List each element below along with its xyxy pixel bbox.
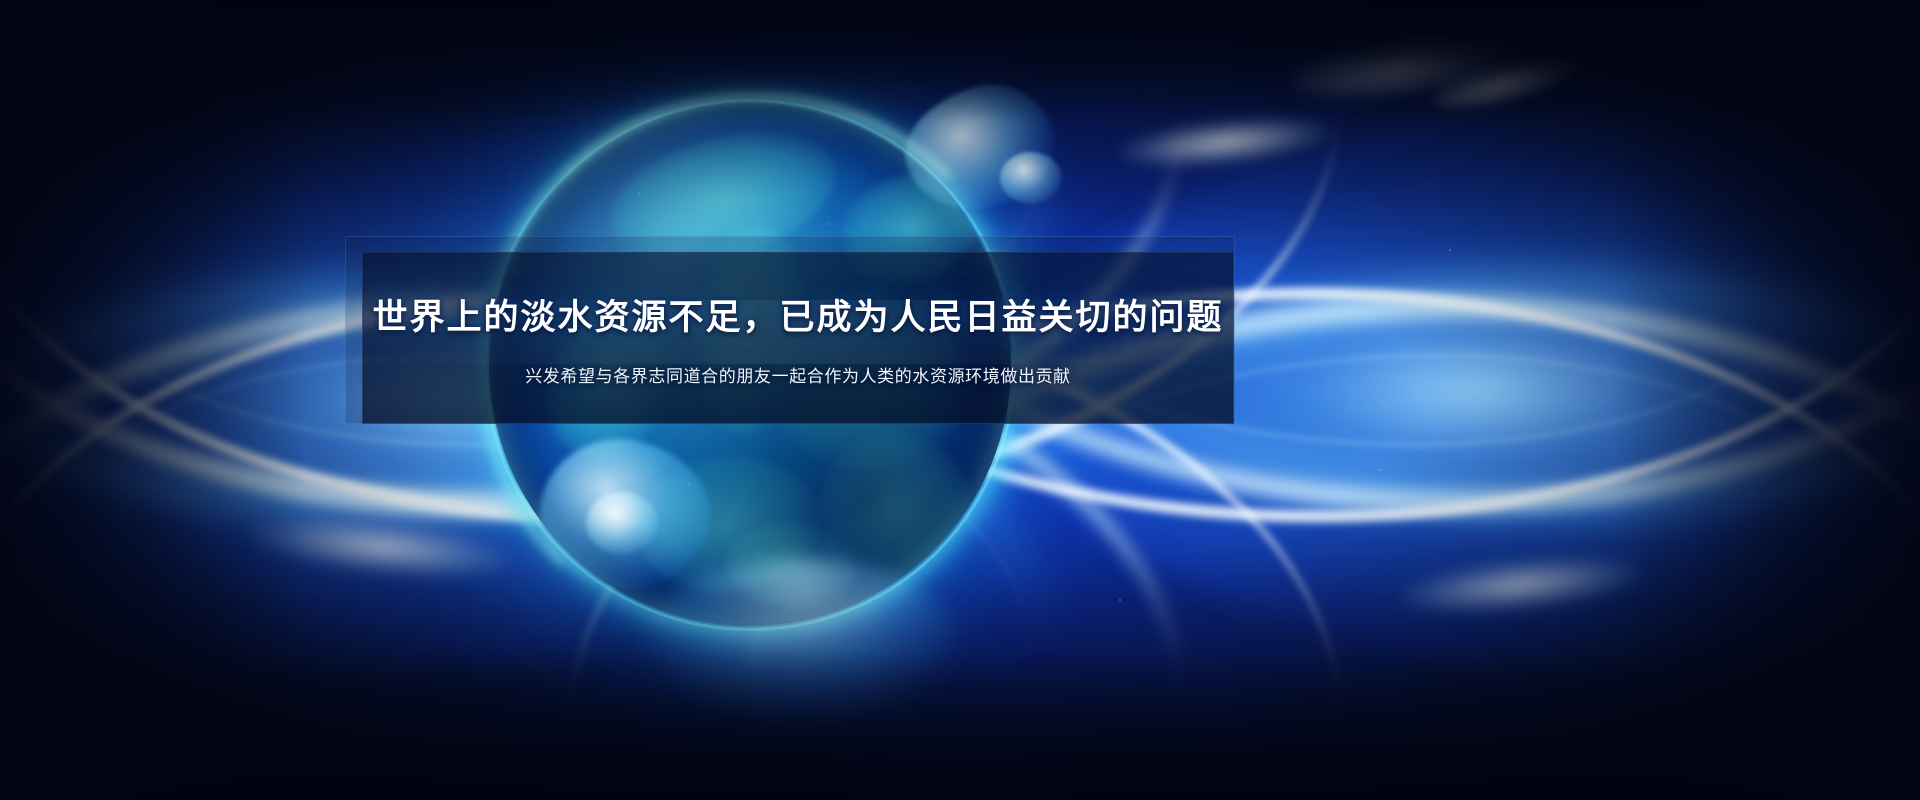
banner-text-block: 世界上的淡水资源不足，已成为人民日益关切的问题 兴发希望与各界志同道合的朋友一起… (362, 252, 1234, 424)
banner-subheadline: 兴发希望与各界志同道合的朋友一起合作为人类的水资源环境做出贡献 (525, 362, 1071, 387)
top-shade-band (0, 0, 1920, 120)
banner-headline: 世界上的淡水资源不足，已成为人民日益关切的问题 (372, 289, 1223, 340)
hero-banner: 世界上的淡水资源不足，已成为人民日益关切的问题 兴发希望与各界志同道合的朋友一起… (0, 0, 1920, 800)
bottom-shade-band (0, 650, 1920, 800)
